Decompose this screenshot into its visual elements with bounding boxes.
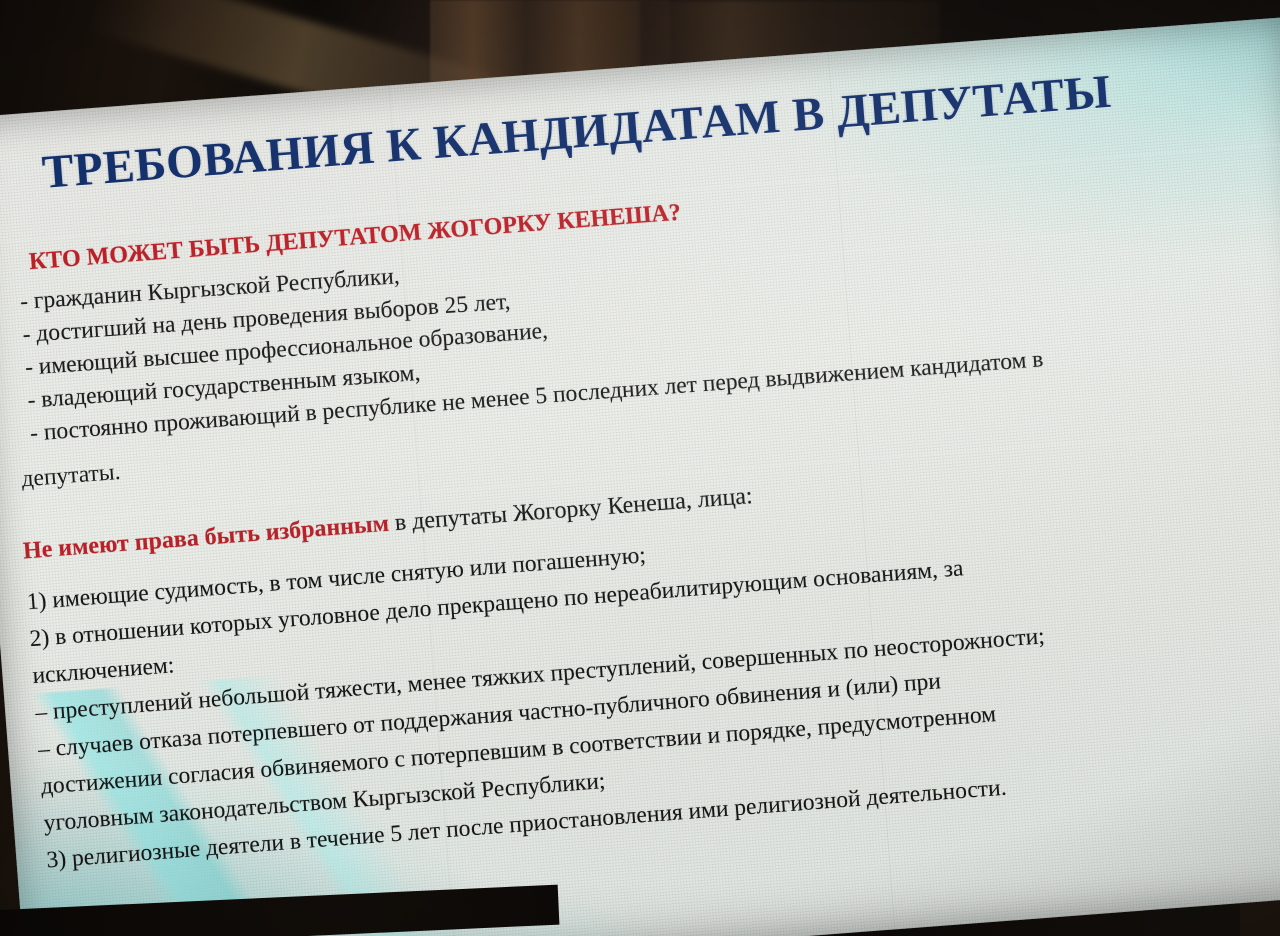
section-two: Не имеют права быть избранным в депутаты… [22, 440, 1280, 880]
section-one-bullet-tail: депутаты. [21, 459, 122, 493]
projection-screen: ТРЕБОВАНИЯ К КАНДИДАТАМ В ДЕПУТАТЫ КТО М… [0, 17, 1280, 936]
slide-content: ТРЕБОВАНИЯ К КАНДИДАТАМ В ДЕПУТАТЫ КТО М… [0, 17, 1280, 936]
slide-surface: ТРЕБОВАНИЯ К КАНДИДАТАМ В ДЕПУТАТЫ КТО М… [0, 17, 1280, 936]
section-one-bullet-list: - гражданин Кыргызской Республики, - дос… [19, 193, 1258, 451]
photo-frame: ТРЕБОВАНИЯ К КАНДИДАТАМ В ДЕПУТАТЫ КТО М… [0, 0, 1280, 936]
